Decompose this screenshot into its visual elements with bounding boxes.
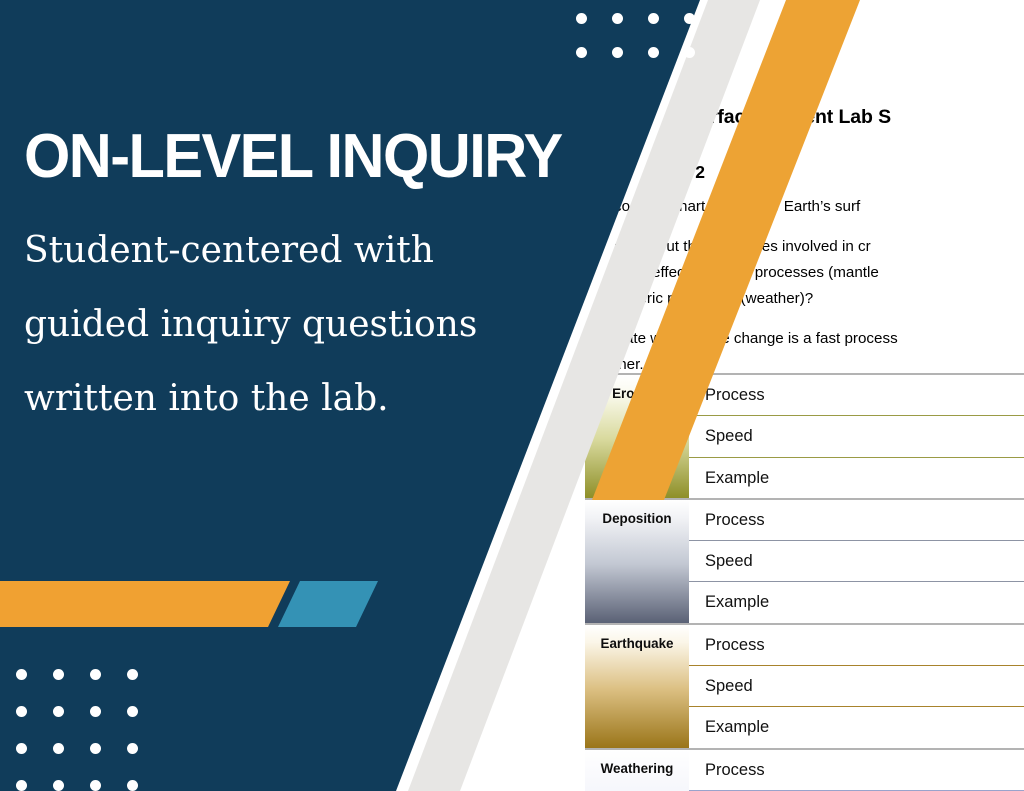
- decorative-dot: [90, 780, 101, 791]
- decorative-dot: [53, 780, 64, 791]
- decorative-dot: [684, 47, 695, 58]
- decorative-dot: [648, 47, 659, 58]
- table-cell: Process: [689, 499, 1024, 541]
- table-cell: Speed: [689, 416, 1024, 457]
- document-title: g Surface Student Lab S: [668, 106, 1024, 129]
- page-subtitle: Student-centered with guided inquiry que…: [24, 214, 554, 436]
- decorative-dot: [16, 669, 27, 680]
- slide-canvas: g Surface Student Lab S art 2 concept ch…: [0, 0, 1024, 791]
- decorative-dot: [684, 13, 695, 24]
- decorative-dot: [612, 47, 623, 58]
- decorative-dot: [127, 669, 138, 680]
- decorative-dot: [648, 13, 659, 24]
- document-body-line: ails about the processes involved in cr: [614, 234, 1024, 260]
- accent-bar-teal-segment: [278, 581, 378, 627]
- decorative-dot: [90, 743, 101, 754]
- accent-bar: [0, 581, 380, 627]
- table-cell: Example: [689, 707, 1024, 749]
- row-label-earthquake: Earthquake: [585, 624, 689, 749]
- dot-grid-top: [576, 13, 720, 81]
- table-row: Earthquake Process: [585, 624, 1024, 666]
- decorative-dot: [127, 743, 138, 754]
- decorative-dot: [127, 706, 138, 717]
- page-title: ON-LEVEL INQUIRY: [24, 126, 562, 188]
- table-row: Weathering Process: [585, 749, 1024, 791]
- table-cell: Process: [689, 624, 1024, 666]
- table-cell: Example: [689, 457, 1024, 499]
- table-cell: Speed: [689, 666, 1024, 707]
- table-cell: Example: [689, 582, 1024, 624]
- decorative-dot: [612, 13, 623, 24]
- document-body-line: g the effect-geologic processes (mantle: [614, 260, 1024, 286]
- accent-bar-orange-segment: [0, 581, 290, 627]
- table-row: Deposition Process: [585, 499, 1024, 541]
- decorative-dot: [90, 706, 101, 717]
- decorative-dot: [16, 706, 27, 717]
- row-label-deposition: Deposition: [585, 499, 689, 624]
- decorative-dot: [53, 706, 64, 717]
- decorative-dot: [576, 13, 587, 24]
- table-cell: Process: [689, 374, 1024, 416]
- row-label-weathering: Weathering: [585, 749, 689, 791]
- decorative-dot: [576, 47, 587, 58]
- decorative-dot: [90, 669, 101, 680]
- decorative-dot: [53, 743, 64, 754]
- dot-grid-bottom: [16, 669, 164, 791]
- decorative-dot: [127, 780, 138, 791]
- decorative-dot: [53, 669, 64, 680]
- decorative-dot: [16, 780, 27, 791]
- decorative-dot: [16, 743, 27, 754]
- table-cell: Speed: [689, 541, 1024, 582]
- table-cell: Process: [689, 749, 1024, 791]
